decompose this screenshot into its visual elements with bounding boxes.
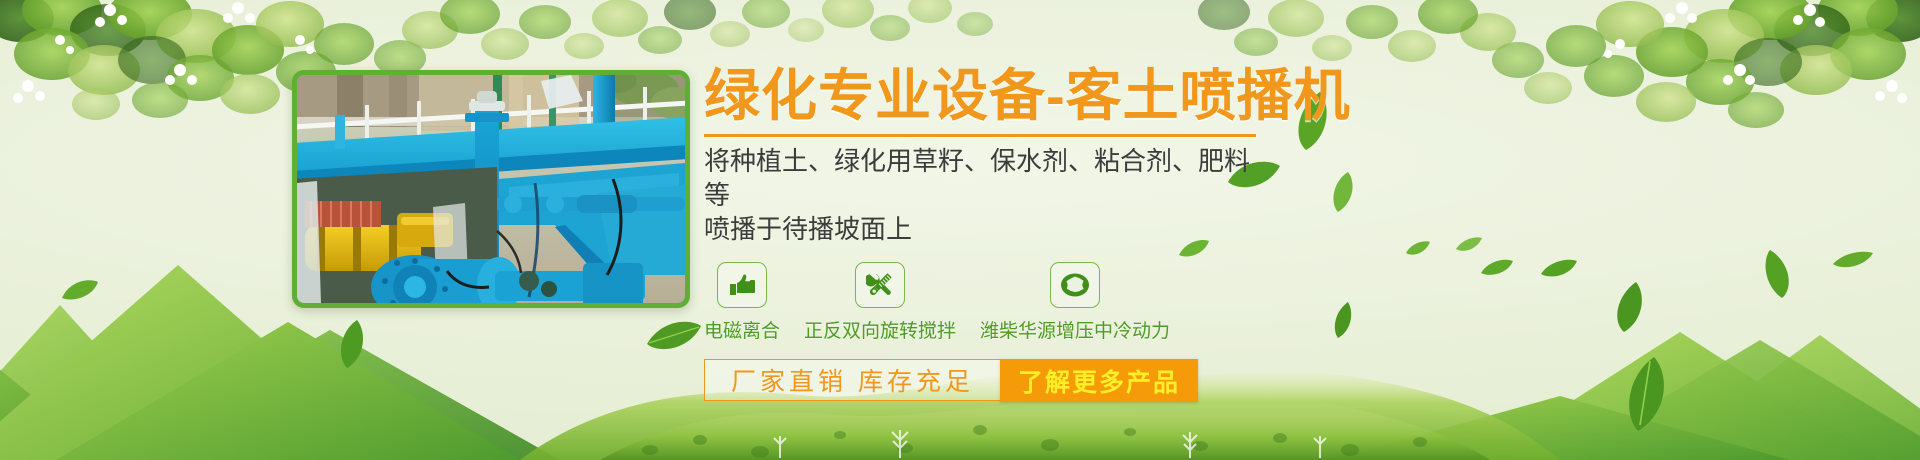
feature-label: 电磁离合 — [704, 316, 780, 343]
banner-content: 绿化专业设备-客土喷播机 将种植土、绿化用草籽、保水剂、粘合剂、肥料等 喷播于待… — [704, 64, 1884, 402]
cta-button-row: 厂家直销 库存充足 了解更多产品 — [704, 359, 1884, 402]
engine-gear-icon — [1050, 262, 1100, 308]
tools-icon — [855, 262, 905, 308]
title-underline-rule — [704, 134, 1256, 137]
feature-label: 潍柴华源增压中冷动力 — [980, 316, 1170, 343]
feature-label: 正反双向旋转搅拌 — [804, 316, 956, 343]
feature-item-weichai-power[interactable]: 潍柴华源增压中冷动力 — [980, 262, 1170, 343]
learn-more-products-button[interactable]: 了解更多产品 — [1000, 359, 1198, 402]
product-photo-frame[interactable] — [292, 70, 690, 308]
subtitle-line-1: 将种植土、绿化用草籽、保水剂、粘合剂、肥料等 — [704, 144, 1274, 212]
banner-title: 绿化专业设备-客土喷播机 — [704, 64, 1884, 128]
promo-banner: 绿化专业设备-客土喷播机 将种植土、绿化用草籽、保水剂、粘合剂、肥料等 喷播于待… — [0, 0, 1920, 460]
feature-list: 电磁离合 — [704, 262, 1884, 343]
product-photo — [297, 75, 685, 303]
factory-direct-stock-button[interactable]: 厂家直销 库存充足 — [704, 359, 1001, 401]
feature-item-electromagnetic-clutch[interactable]: 电磁离合 — [704, 262, 780, 343]
thumbs-up-icon — [717, 262, 767, 308]
subtitle-line-2: 喷播于待播坡面上 — [704, 212, 1274, 246]
feature-item-bidirectional-mixing[interactable]: 正反双向旋转搅拌 — [804, 262, 956, 343]
banner-subtitle: 将种植土、绿化用草籽、保水剂、粘合剂、肥料等 喷播于待播坡面上 — [704, 144, 1274, 246]
